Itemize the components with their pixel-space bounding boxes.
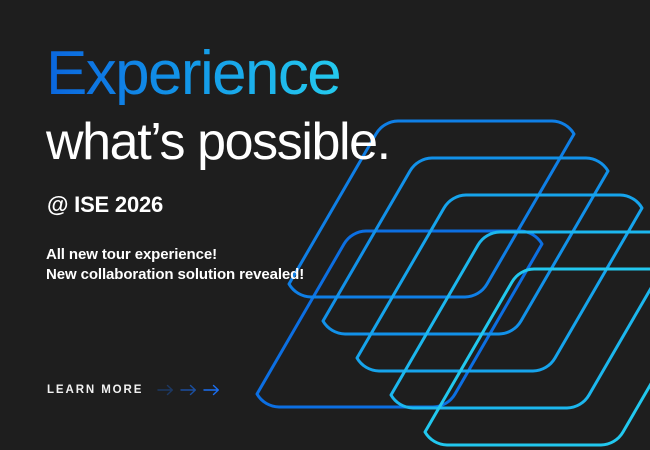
event-eyebrow: @ ISE 2026 — [47, 194, 163, 216]
cta-arrow-group — [157, 384, 221, 396]
arrow-right-icon — [157, 384, 175, 396]
learn-more-label: LEARN MORE — [47, 384, 143, 396]
blurb-line-1: All new tour experience! — [46, 245, 304, 265]
blurb-line-2: New collaboration solution revealed! — [46, 265, 304, 285]
banner-content: Experience what’s possible. @ ISE 2026 A… — [44, 0, 604, 450]
blurb-block: All new tour experience! New collaborati… — [46, 245, 304, 285]
headline-primary: Experience — [46, 43, 340, 105]
arrow-right-icon — [180, 384, 198, 396]
promo-banner: Experience what’s possible. @ ISE 2026 A… — [0, 0, 650, 450]
arrow-right-icon — [203, 384, 221, 396]
learn-more-link[interactable]: LEARN MORE — [47, 384, 221, 396]
headline-secondary: what’s possible. — [46, 116, 390, 168]
